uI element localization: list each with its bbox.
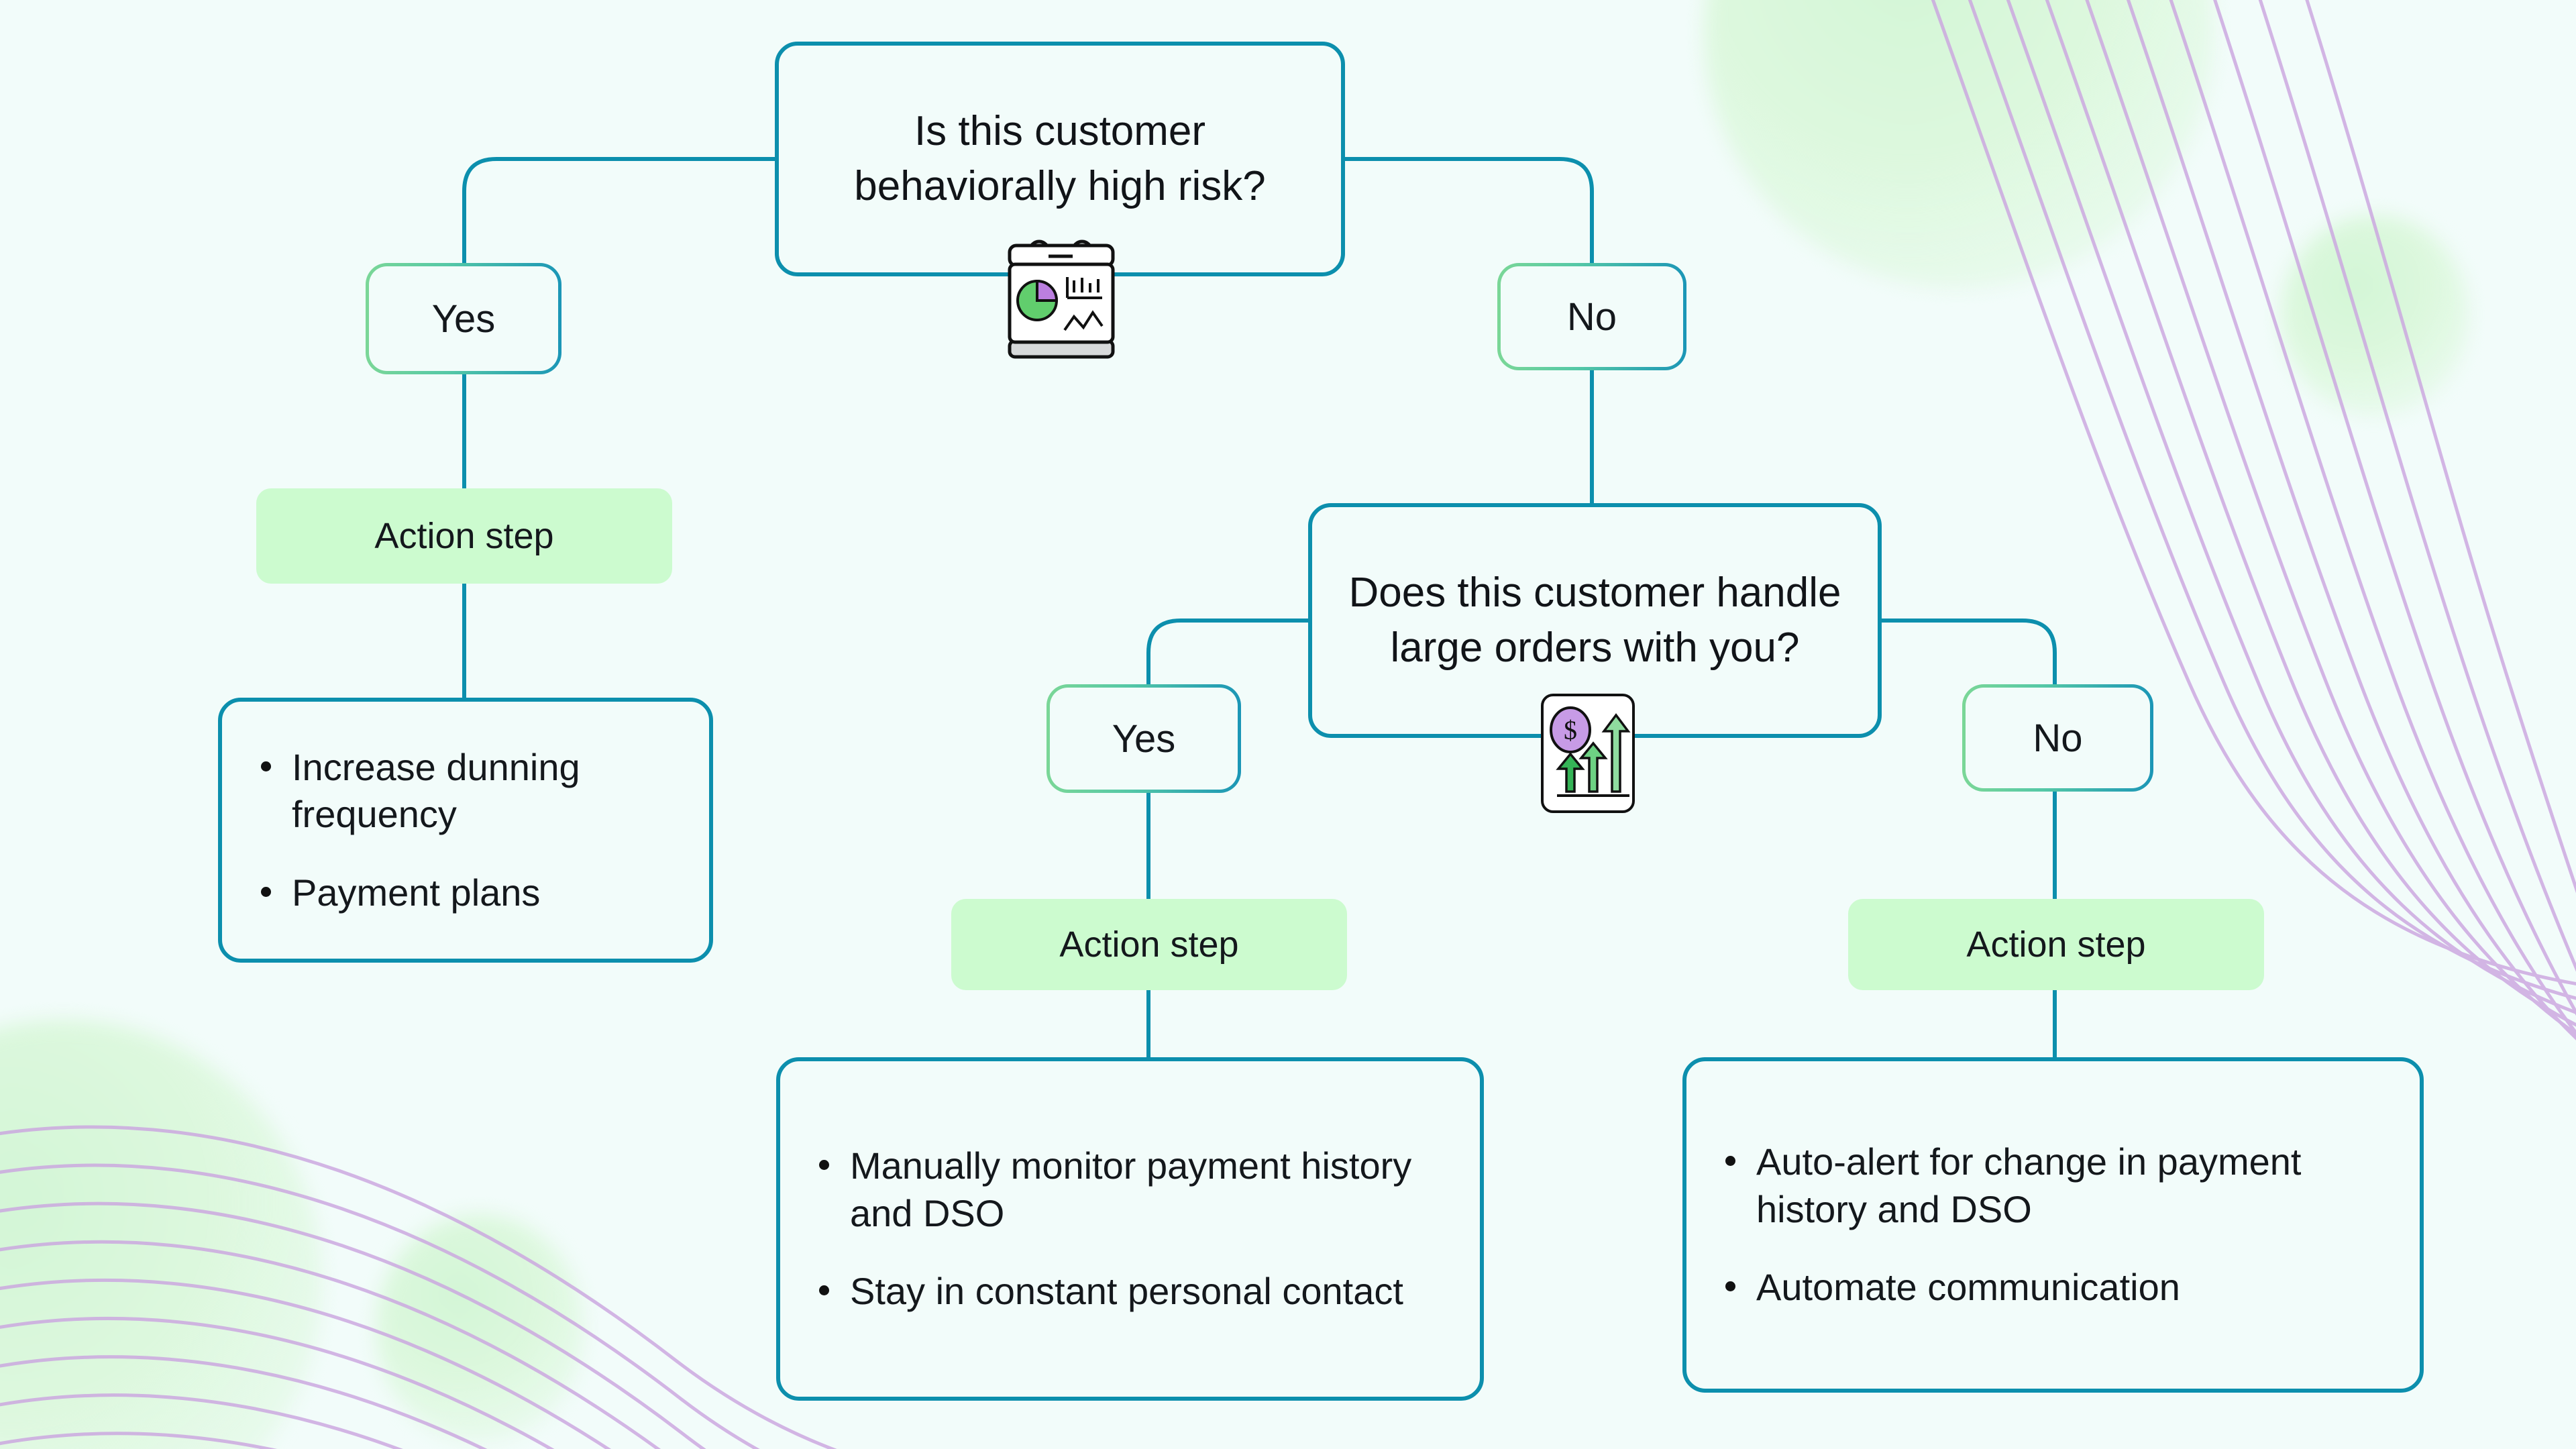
action-step-middle[interactable]: Action step <box>951 899 1347 990</box>
action-step-left-label: Action step <box>374 515 553 557</box>
outcome-yes-middle[interactable]: Yes <box>1046 684 1241 793</box>
outcome-list-right[interactable]: Auto-alert for change in payment history… <box>1682 1057 2424 1393</box>
outcome-yes-left[interactable]: Yes <box>366 263 561 374</box>
wire-root-to-yes <box>464 159 775 267</box>
outcome-list-left[interactable]: Increase dunning frequency Payment plans <box>218 698 713 963</box>
wire-root-to-no <box>1344 159 1592 267</box>
outcome-no-right[interactable]: No <box>1497 263 1686 370</box>
action-step-right[interactable]: Action step <box>1848 899 2264 990</box>
growth-arrows-icon: $ <box>1527 691 1648 816</box>
outcome-yes-left-label: Yes <box>369 266 558 371</box>
svg-text:$: $ <box>1564 715 1577 745</box>
outcome-no-bottom[interactable]: No <box>1962 684 2153 792</box>
list-item: Stay in constant personal contact <box>850 1268 1444 1316</box>
list-item: Payment plans <box>292 869 673 917</box>
decision-large-orders-text: Does this customer handle large orders w… <box>1322 566 1868 676</box>
action-step-middle-label: Action step <box>1059 924 1238 965</box>
list-item: Automate communication <box>1756 1264 2383 1311</box>
action-step-left[interactable]: Action step <box>256 488 672 584</box>
action-step-right-label: Action step <box>1966 924 2145 965</box>
flowchart-canvas: Is this customer behaviorally high risk? <box>0 0 2576 1449</box>
outcome-no-right-label: No <box>1501 266 1683 367</box>
list-item: Auto-alert for change in payment history… <box>1756 1138 2383 1233</box>
outcome-list-middle[interactable]: Manually monitor payment history and DSO… <box>776 1057 1484 1401</box>
outcome-no-bottom-label: No <box>1966 688 2150 788</box>
list-item: Manually monitor payment history and DSO <box>850 1142 1444 1237</box>
report-chart-icon <box>998 233 1122 361</box>
wire-d2-to-no <box>1882 621 2055 688</box>
decision-root-text: Is this customer behaviorally high risk? <box>827 104 1292 214</box>
wire-d2-to-yes <box>1148 621 1308 688</box>
list-item: Increase dunning frequency <box>292 744 673 839</box>
outcome-yes-middle-label: Yes <box>1050 688 1238 790</box>
